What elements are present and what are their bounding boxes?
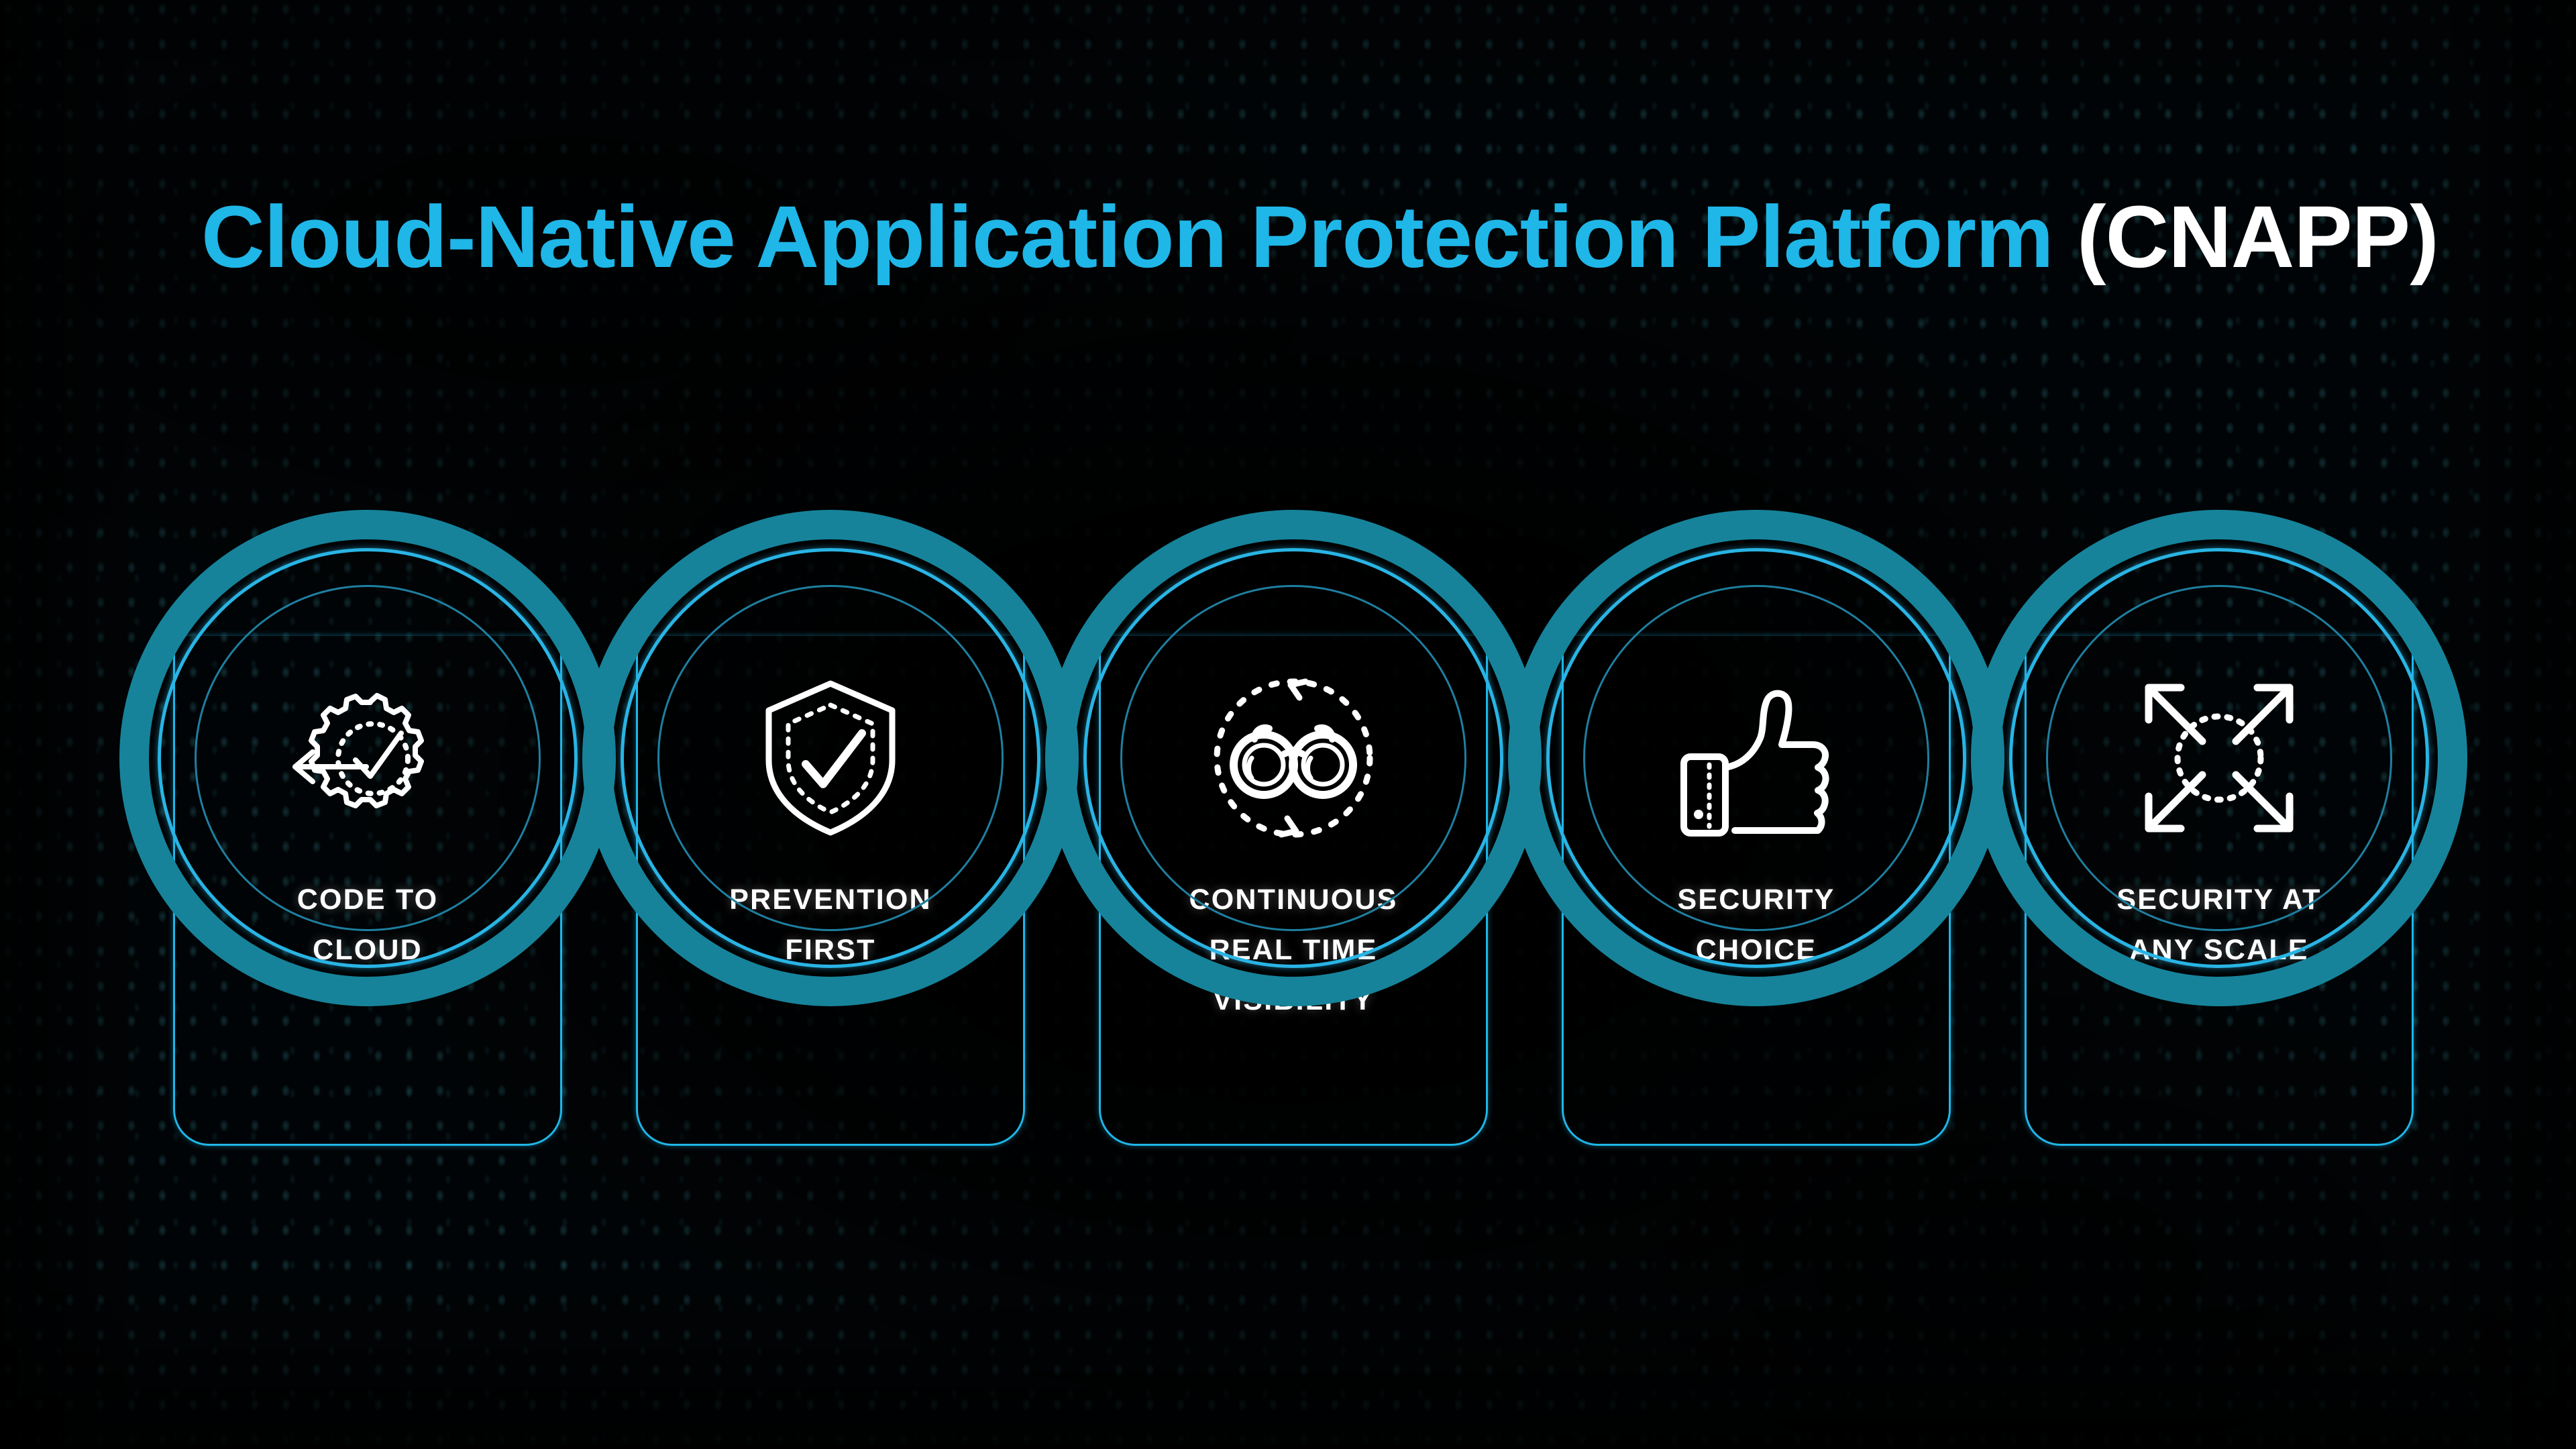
page-title-highlight: Cloud-Native Application Protection Plat… xyxy=(201,187,2053,286)
page-title: Cloud-Native Application Protection Plat… xyxy=(201,193,2438,280)
icon-circle-prevention-first[interactable] xyxy=(582,510,1079,1006)
pillar-row: CODE TO CLOUD PREVENTION FIRST CONTINUOU… xyxy=(0,510,2576,1154)
icon-circle-continuous-real-time-visibility[interactable] xyxy=(1045,510,1542,1006)
binoculars-refresh-icon xyxy=(1045,510,1542,1006)
icon-circle-security-at-any-scale[interactable] xyxy=(1971,510,2467,1006)
shield-check-icon xyxy=(582,510,1079,1006)
pillar-icon-circles xyxy=(0,510,2576,1154)
icon-circle-security-choice[interactable] xyxy=(1508,510,2004,1006)
thumbs-up-icon xyxy=(1508,510,2004,1006)
expand-arrows-icon xyxy=(1971,510,2467,1006)
gear-check-arrow-icon xyxy=(119,510,616,1006)
icon-circle-code-to-cloud[interactable] xyxy=(119,510,616,1006)
page-title-acronym: (CNAPP) xyxy=(2077,187,2438,286)
